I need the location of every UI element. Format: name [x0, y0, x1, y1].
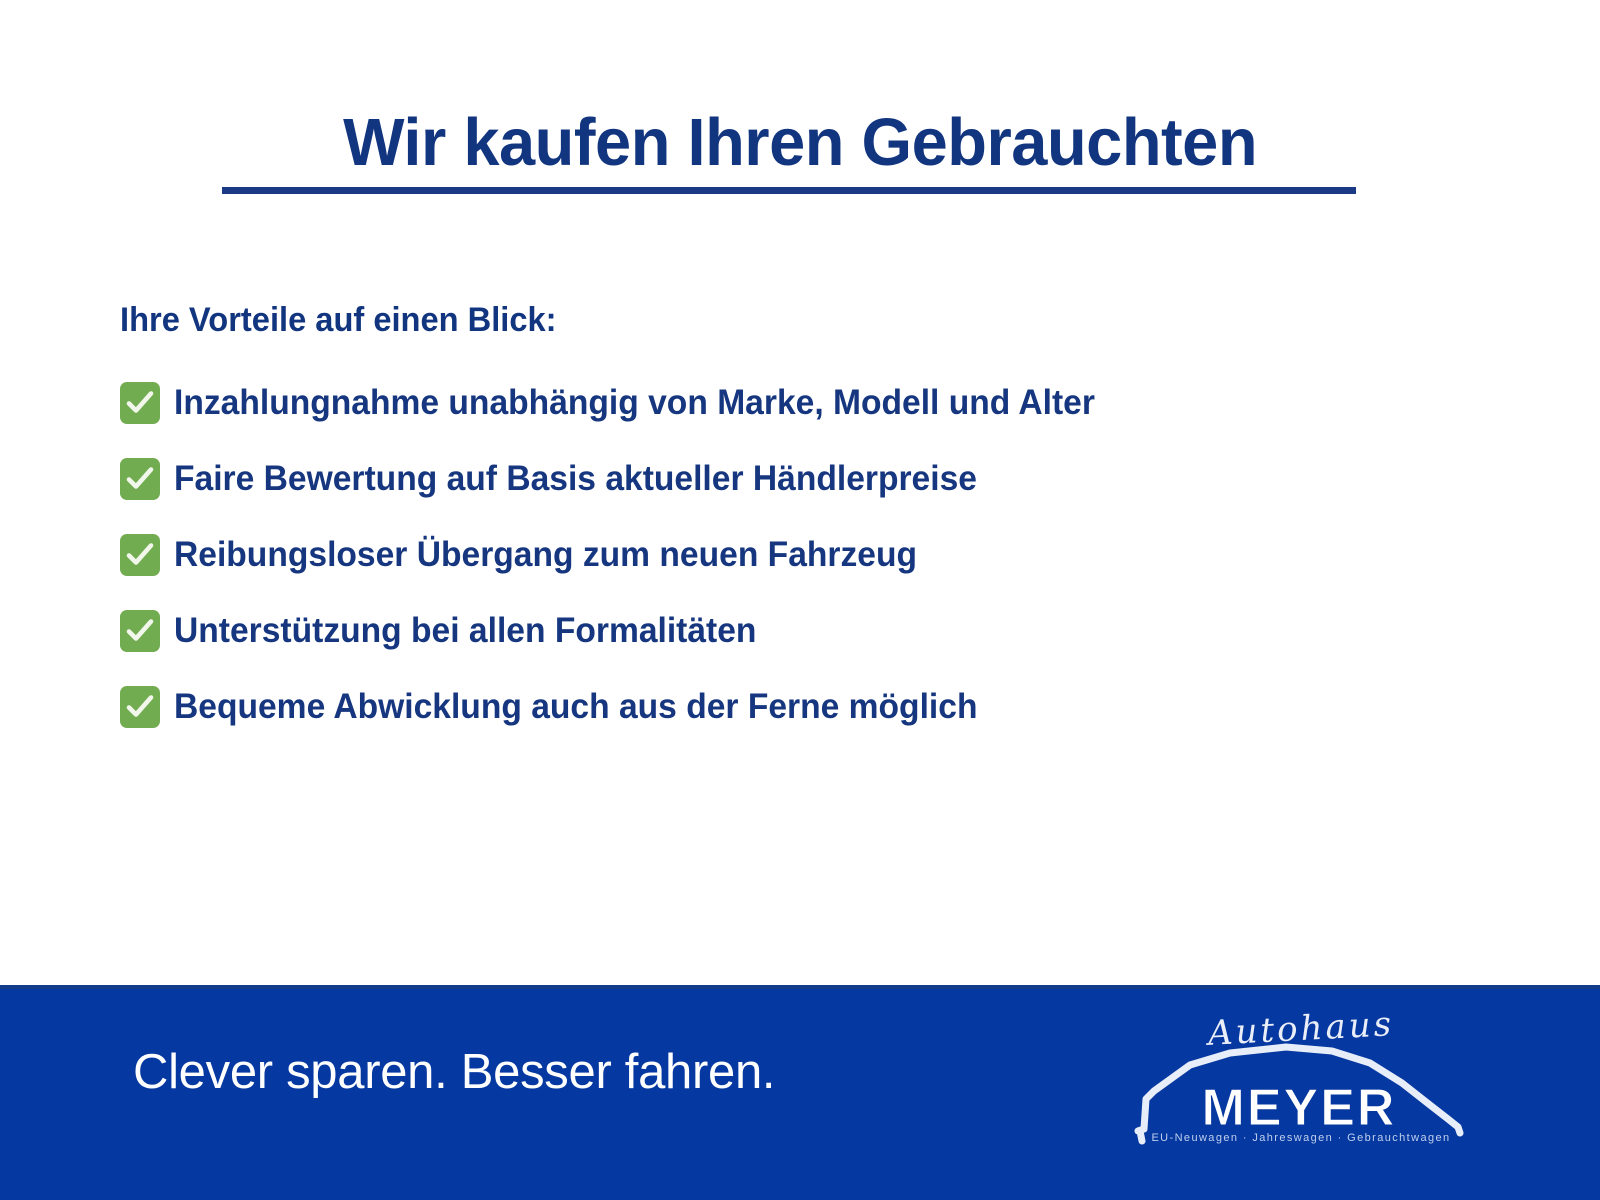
headline-container: Wir kaufen Ihren Gebrauchten: [0, 104, 1600, 182]
headline-underline: [222, 187, 1356, 194]
advertisement-page: Wir kaufen Ihren Gebrauchten Ihre Vortei…: [0, 0, 1600, 1200]
footer-tagline: Clever sparen. Besser fahren.: [133, 1043, 775, 1101]
footer-banner: Clever sparen. Besser fahren. Autohaus M…: [0, 985, 1600, 1200]
benefits-list: Inzahlungnahme unabhängig von Marke, Mod…: [120, 381, 1520, 729]
benefit-label: Reibungsloser Übergang zum neuen Fahrzeu…: [174, 533, 917, 577]
dealer-logo: Autohaus MEYER EU-Neuwagen · Jahreswagen…: [1118, 1003, 1478, 1163]
list-item: Bequeme Abwicklung auch aus der Ferne mö…: [120, 685, 1520, 729]
logo-subtitle-text: EU-Neuwagen · Jahreswagen · Gebrauchtwag…: [1136, 1131, 1466, 1145]
check-square-icon: [120, 534, 160, 576]
check-square-icon: [120, 686, 160, 728]
page-title: Wir kaufen Ihren Gebrauchten: [343, 104, 1257, 182]
list-item: Faire Bewertung auf Basis aktueller Händ…: [120, 457, 1520, 501]
check-square-icon: [120, 458, 160, 500]
benefit-label: Unterstützung bei allen Formalitäten: [174, 609, 756, 653]
banner-top-divider: [0, 985, 1600, 989]
benefit-label: Bequeme Abwicklung auch aus der Ferne mö…: [174, 685, 977, 729]
benefit-label: Inzahlungnahme unabhängig von Marke, Mod…: [174, 381, 1095, 425]
check-square-icon: [120, 610, 160, 652]
benefit-label: Faire Bewertung auf Basis aktueller Händ…: [174, 457, 977, 501]
check-square-icon: [120, 382, 160, 424]
logo-name-text: MEYER: [1154, 1081, 1444, 1135]
list-item: Reibungsloser Übergang zum neuen Fahrzeu…: [120, 533, 1520, 577]
list-item: Inzahlungnahme unabhängig von Marke, Mod…: [120, 381, 1520, 425]
list-item: Unterstützung bei allen Formalitäten: [120, 609, 1520, 653]
benefits-subheading: Ihre Vorteile auf einen Blick:: [120, 299, 557, 341]
